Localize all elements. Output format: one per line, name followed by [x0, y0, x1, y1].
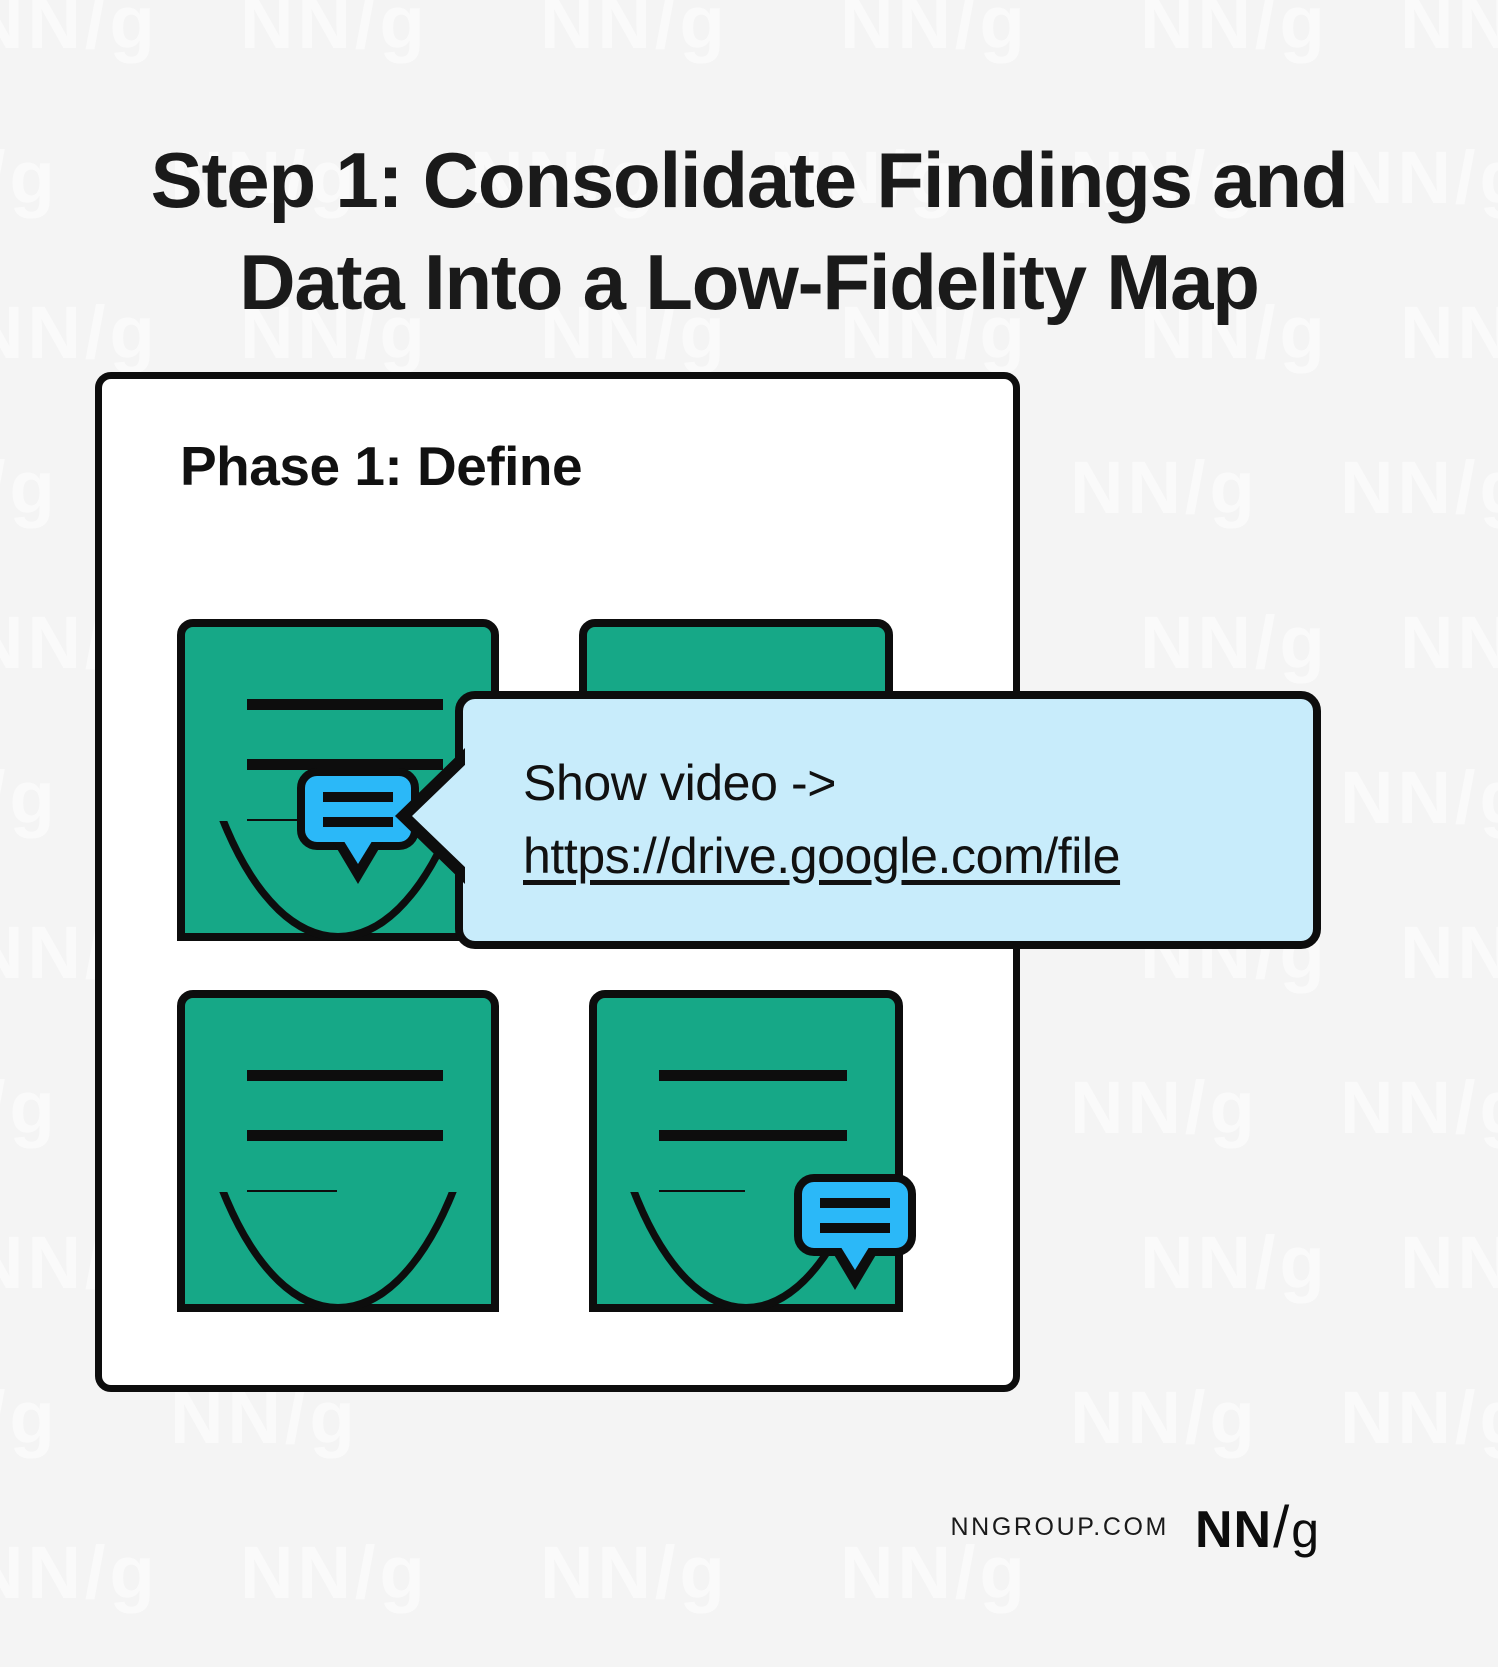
comment-bubble-line: [820, 1198, 890, 1208]
watermark-tile: NN/g: [1140, 0, 1329, 65]
watermark-tile: NN/g: [1400, 910, 1498, 995]
nng-logo-g: g: [1291, 1501, 1320, 1559]
watermark-tile: NN/g: [0, 1375, 59, 1460]
callout-tail-fill: [412, 762, 468, 870]
phase-title: Phase 1: Define: [180, 434, 582, 498]
comment-bubble-tail-fill: [342, 838, 374, 864]
callout-text: Show video -> https://drive.google.com/f…: [523, 747, 1289, 892]
watermark-tile: NN/g: [0, 445, 59, 530]
watermark-tile: NN/g: [540, 1530, 729, 1615]
watermark-tile: NN/g: [1400, 600, 1498, 685]
watermark-tile: NN/g: [240, 1530, 429, 1615]
watermark-tile: NN/g: [1140, 1220, 1329, 1305]
watermark-tile: NN/g: [1070, 1065, 1259, 1150]
comment-callout[interactable]: Show video -> https://drive.google.com/f…: [455, 691, 1321, 949]
nng-logo: NN / g: [1195, 1494, 1320, 1561]
watermark-tile: NN/g: [1400, 0, 1498, 65]
sticky-note-3[interactable]: [177, 990, 499, 1312]
watermark-tile: NN/g: [540, 0, 729, 65]
watermark-tile: NN/g: [1140, 600, 1329, 685]
comment-bubble-icon[interactable]: [794, 1174, 916, 1256]
watermark-tile: NN/g: [1340, 445, 1498, 530]
note-line: [659, 1130, 847, 1141]
watermark-tile: NN/g: [840, 0, 1029, 65]
note-line: [659, 1190, 745, 1201]
watermark-tile: NN/g: [1340, 755, 1498, 840]
footer-branding: NNGROUP.COM NN / g: [951, 1494, 1320, 1561]
page-title: Step 1: Consolidate Findings and Data In…: [0, 130, 1498, 333]
note-line: [247, 1130, 443, 1141]
watermark-tile: NN/g: [1340, 1065, 1498, 1150]
callout-link[interactable]: https://drive.google.com/file: [523, 820, 1120, 893]
watermark-tile: NN/g: [0, 1065, 59, 1150]
callout-instruction: Show video ->: [523, 747, 1289, 820]
sticky-note-3-lines: [247, 1070, 443, 1250]
footer-site-url: NNGROUP.COM: [951, 1513, 1169, 1542]
note-line: [247, 1070, 443, 1081]
comment-bubble-line: [323, 817, 393, 827]
watermark-tile: NN/g: [1340, 1375, 1498, 1460]
watermark-tile: NN/g: [0, 1530, 159, 1615]
nng-logo-slash: /: [1273, 1494, 1290, 1561]
note-line: [659, 1070, 847, 1081]
note-line: [247, 1190, 337, 1201]
watermark-tile: NN/g: [240, 0, 429, 65]
comment-bubble-line: [323, 792, 393, 802]
nng-logo-nn: NN: [1195, 1500, 1272, 1560]
watermark-tile: NN/g: [1400, 1220, 1498, 1305]
page-title-line-2: Data Into a Low-Fidelity Map: [0, 232, 1498, 333]
watermark-tile: NN/g: [0, 755, 59, 840]
comment-bubble-tail-fill: [839, 1244, 871, 1270]
page-title-line-1: Step 1: Consolidate Findings and: [0, 130, 1498, 231]
note-line: [247, 699, 443, 710]
watermark-tile: NN/g: [1070, 445, 1259, 530]
watermark-tile: NN/g: [1070, 1375, 1259, 1460]
watermark-tile: NN/g: [0, 0, 159, 65]
comment-bubble-line: [820, 1223, 890, 1233]
